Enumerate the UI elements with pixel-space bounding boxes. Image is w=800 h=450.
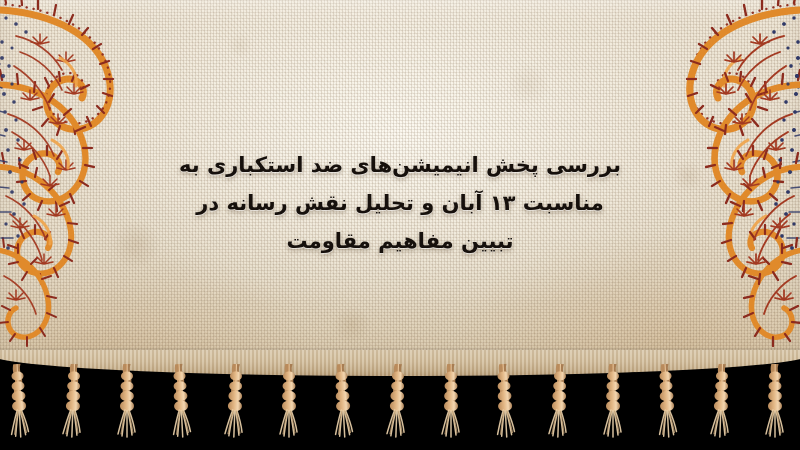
- title-line-1: بررسی پخش انیمیشن‌های ضد استکباری به: [0, 146, 800, 184]
- fringe-band: [0, 350, 800, 450]
- tassel: [652, 363, 682, 444]
- tassel: [166, 363, 196, 444]
- tassel: [438, 364, 464, 444]
- tassel: [328, 363, 358, 444]
- tassel: [545, 364, 574, 445]
- textile-banner-image: بررسی پخش انیمیشن‌های ضد استکباری به منا…: [0, 0, 800, 450]
- tassel: [707, 364, 736, 445]
- title-line-2: مناسبت ۱۳ آبان و تحلیل نقش رسانه در: [0, 184, 800, 222]
- tassel: [276, 364, 302, 444]
- tassel: [762, 364, 788, 444]
- tassel: [59, 364, 88, 445]
- tassel: [221, 364, 250, 445]
- tassel: [490, 363, 520, 444]
- tassel: [114, 364, 140, 444]
- tassel: [383, 364, 412, 445]
- tassel: [4, 363, 34, 444]
- tassel: [600, 364, 626, 444]
- title-line-3: تبیین مفاهیم مقاومت: [0, 222, 800, 260]
- banner-title: بررسی پخش انیمیشن‌های ضد استکباری به منا…: [0, 146, 800, 260]
